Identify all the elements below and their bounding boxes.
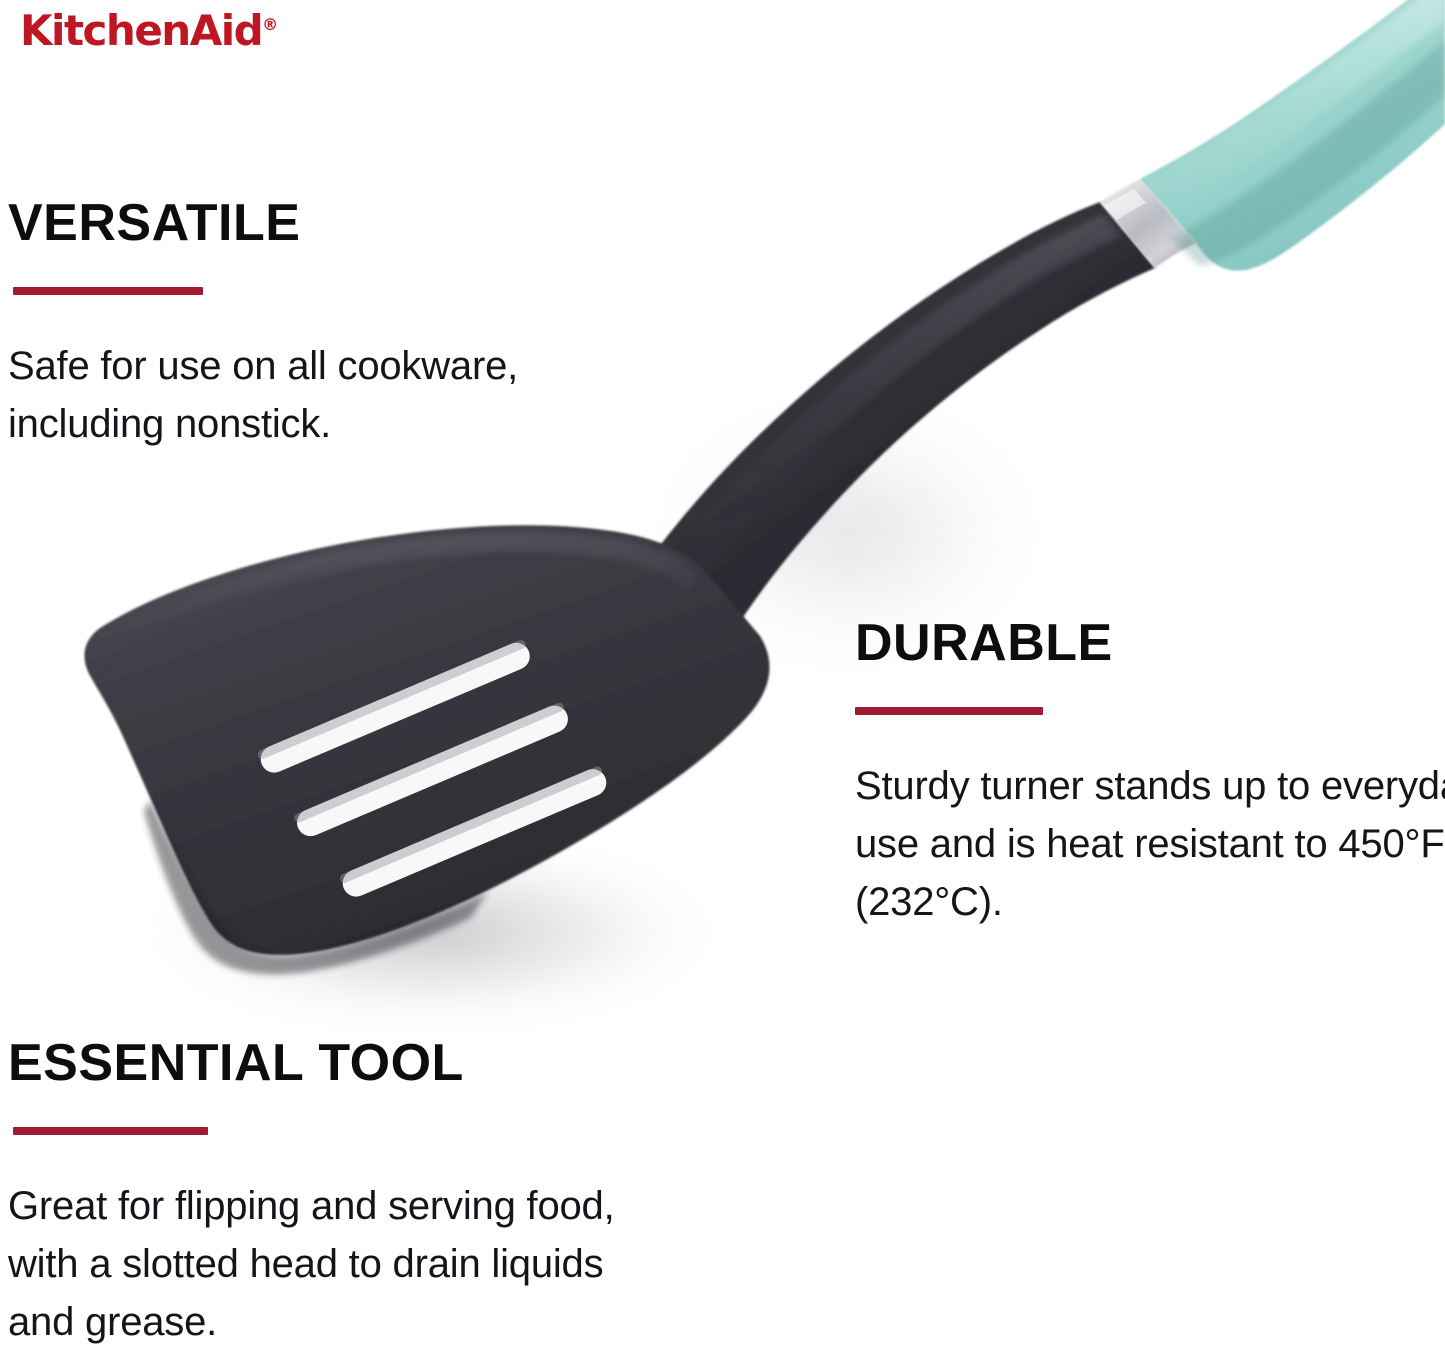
slot-3 xyxy=(338,765,610,901)
svg-text:KitchenAid: KitchenAid xyxy=(1209,51,1333,151)
accent-rule-durable xyxy=(855,707,1043,715)
feature-heading-durable: DURABLE xyxy=(855,616,1445,671)
handle-embossed-logo: KitchenAid KitchenAid xyxy=(1209,51,1334,153)
registered-trademark-icon: ® xyxy=(262,15,278,34)
feature-block-versatile: VERSATILE Safe for use on all cookware, … xyxy=(8,196,648,493)
turner-handle: KitchenAid KitchenAid xyxy=(1140,0,1445,271)
feature-body-versatile: Safe for use on all cookware, including … xyxy=(8,337,648,453)
product-feature-image: KitchenAid® xyxy=(0,0,1445,1351)
feature-heading-essential-tool: ESSENTIAL TOOL xyxy=(8,1036,648,1091)
turner-slots xyxy=(256,639,610,901)
chrome-ferrule xyxy=(1100,179,1196,268)
feature-heading-versatile: VERSATILE xyxy=(8,196,648,251)
accent-rule-essential-tool xyxy=(13,1127,208,1135)
kitchenaid-logo: KitchenAid® xyxy=(20,10,278,52)
brand-name: KitchenAid xyxy=(20,6,262,55)
feature-body-essential-tool: Great for flipping and serving food, wit… xyxy=(8,1177,648,1351)
slot-1 xyxy=(256,639,533,777)
feature-block-essential-tool: ESSENTIAL TOOL Great for flipping and se… xyxy=(8,1036,648,1351)
slot-2 xyxy=(293,701,572,840)
feature-body-durable: Sturdy turner stands up to everyday use … xyxy=(855,757,1445,931)
handle-emboss-text: KitchenAid xyxy=(1210,53,1334,153)
turner-head xyxy=(84,525,769,974)
accent-rule-versatile xyxy=(13,287,203,295)
feature-block-durable: DURABLE Sturdy turner stands up to every… xyxy=(855,616,1445,971)
turner-neck xyxy=(610,202,1155,663)
